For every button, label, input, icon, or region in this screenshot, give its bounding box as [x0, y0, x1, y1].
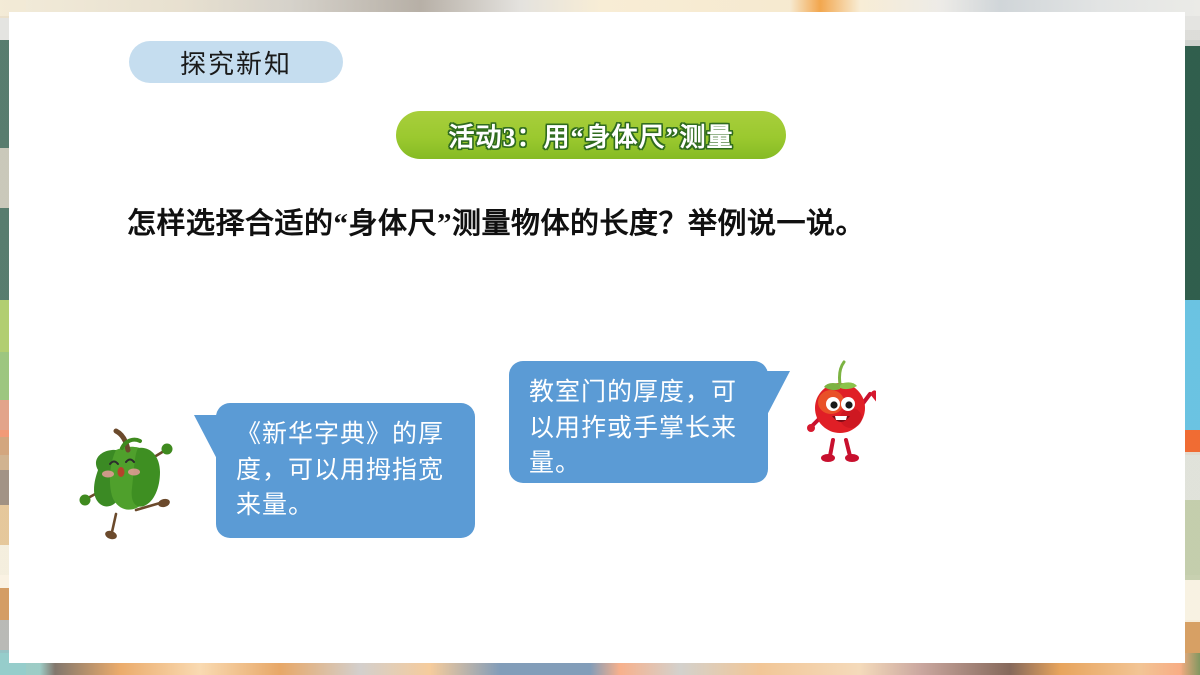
activity-banner-label: 活动3：用“身体尺”测量	[448, 117, 733, 154]
speech-bubble-left-text: 《新华字典》的厚度，可以用拇指宽来量。	[236, 417, 457, 524]
green-bell-pepper-mascot-icon	[72, 418, 194, 540]
background-strip-right	[1182, 0, 1200, 675]
activity-banner: 活动3：用“身体尺”测量	[396, 111, 786, 159]
section-pill-explore-new-knowledge: 探究新知	[129, 41, 343, 83]
speech-bubble-right-text: 教室门的厚度，可以用拃或手掌长来量。	[529, 375, 750, 482]
slide-canvas: 探究新知 活动3：用“身体尺”测量 怎样选择合适的“身体尺”测量物体的长度？举例…	[0, 0, 1200, 675]
speech-bubble-left-tail	[194, 415, 218, 461]
section-pill-label: 探究新知	[180, 44, 292, 81]
red-tomato-mascot-icon	[806, 356, 876, 464]
question-prompt: 怎样选择合适的“身体尺”测量物体的长度？举例说一说。	[127, 200, 865, 242]
speech-bubble-right: 教室门的厚度，可以用拃或手掌长来量。	[509, 361, 768, 483]
speech-bubble-right-tail	[766, 371, 790, 417]
speech-bubble-left: 《新华字典》的厚度，可以用拇指宽来量。	[216, 403, 475, 538]
